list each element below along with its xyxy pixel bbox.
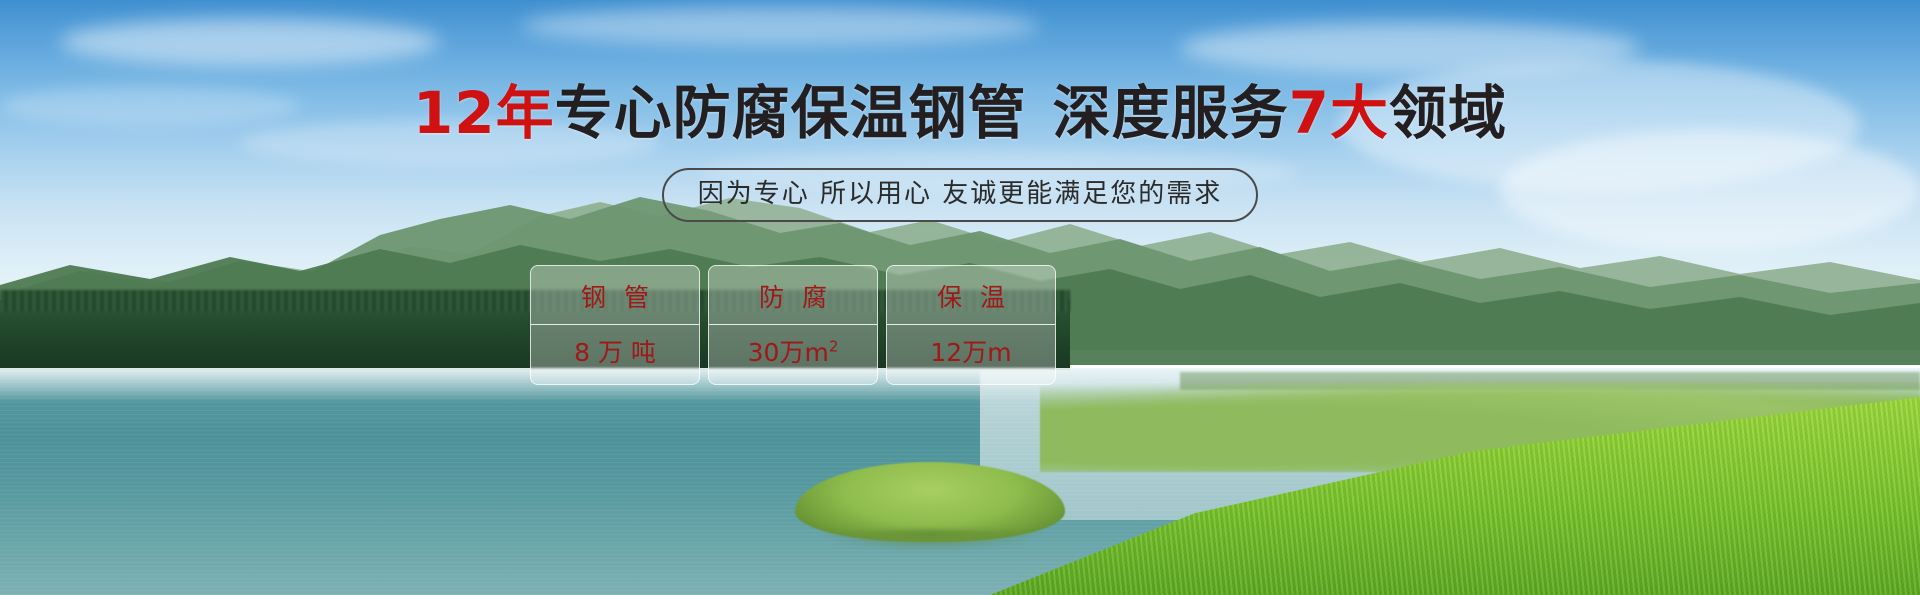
- stat-card-label: 保 温: [932, 284, 1010, 312]
- headline-years: 12年: [413, 79, 555, 147]
- stat-value-text: 8 万 吨: [574, 338, 656, 367]
- stat-card-insulation: 保 温 12万m: [886, 265, 1056, 385]
- stat-card-divider: [709, 324, 877, 325]
- promotional-banner: 12年专心防腐保温钢管深度服务7大领域 因为专心 所以用心 友诚更能满足您的需求…: [0, 0, 1920, 595]
- stat-value-superscript: 2: [829, 338, 839, 356]
- subtitle-container: 因为专心 所以用心 友诚更能满足您的需求: [0, 168, 1920, 222]
- page-title: 12年专心防腐保温钢管深度服务7大领域: [0, 82, 1920, 144]
- banner-content: 12年专心防腐保温钢管深度服务7大领域 因为专心 所以用心 友诚更能满足您的需求…: [0, 0, 1920, 595]
- stat-card-steel-pipe: 钢 管 8 万 吨: [530, 265, 700, 385]
- stat-card-value: 12万m: [930, 339, 1011, 367]
- stat-card-label: 防 腐: [754, 284, 832, 312]
- stat-card-label: 钢 管: [576, 284, 654, 312]
- headline-main: 专心防腐保温钢管: [555, 79, 1027, 147]
- headline-service: 深度服务: [1053, 79, 1289, 147]
- stat-card-value: 8 万 吨: [574, 339, 656, 367]
- stat-value-text: 30万m: [748, 338, 829, 367]
- stat-value-text: 12万m: [930, 338, 1011, 367]
- headline-count: 7: [1289, 79, 1330, 147]
- subtitle-pill: 因为专心 所以用心 友诚更能满足您的需求: [662, 168, 1259, 222]
- stat-card-anticorrosion: 防 腐 30万m2: [708, 265, 878, 385]
- stat-card-list: 钢 管 8 万 吨 防 腐 30万m2 保 温 12万m: [530, 265, 1390, 385]
- stat-card-value: 30万m2: [748, 339, 839, 367]
- headline-fields: 领域: [1389, 79, 1507, 147]
- stat-card-divider: [887, 324, 1055, 325]
- headline-big-char: 大: [1330, 79, 1389, 147]
- stat-card-divider: [531, 324, 699, 325]
